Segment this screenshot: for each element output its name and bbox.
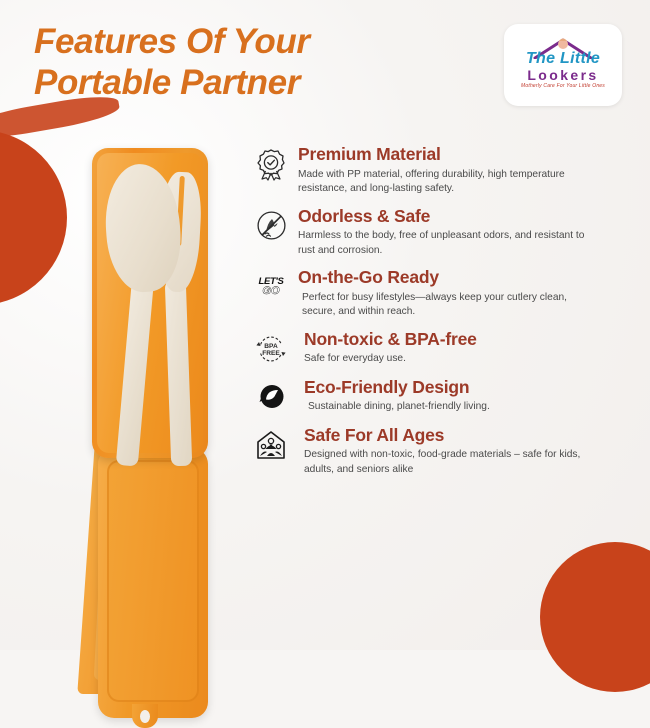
feature-description: Sustainable dining, planet-friendly livi… bbox=[304, 400, 604, 414]
lets-go-icon-bottom: GO bbox=[258, 286, 283, 297]
bpa-icon-text-bottom: FREE bbox=[262, 350, 280, 357]
eco-leaf-icon bbox=[252, 378, 290, 416]
family-home-icon bbox=[252, 426, 290, 464]
brand-logo: The Little Lookers Motherly Care For You… bbox=[504, 24, 622, 106]
feature-title: Odorless & Safe bbox=[298, 207, 624, 227]
feature-title: Non-toxic & BPA-free bbox=[304, 330, 624, 350]
feature-description: Safe for everyday use. bbox=[304, 352, 604, 366]
feature-item: LET'S GO On-the-Go Ready Perfect for bus… bbox=[252, 267, 624, 320]
feature-description: Perfect for busy lifestyles—always keep … bbox=[298, 291, 598, 320]
feature-list: Premium Material Made with PP material, … bbox=[252, 144, 624, 486]
logo-tagline: Motherly Care For Your Little Ones bbox=[507, 83, 619, 89]
feature-item: Eco-Friendly Design Sustainable dining, … bbox=[252, 377, 624, 416]
product-image bbox=[78, 148, 228, 628]
feature-description: Designed with non-toxic, food-grade mate… bbox=[304, 448, 604, 477]
lets-go-icon: LET'S GO bbox=[252, 268, 290, 306]
feature-title: Eco-Friendly Design bbox=[304, 378, 624, 398]
logo-line1: The Little bbox=[507, 50, 619, 68]
feature-item: BPA FREE Non-toxic & BPA-free Safe for e… bbox=[252, 329, 624, 368]
feature-description: Made with PP material, offering durabili… bbox=[298, 168, 598, 197]
feature-title: Safe For All Ages bbox=[304, 426, 624, 446]
badge-check-icon bbox=[252, 145, 290, 183]
bpa-free-icon: BPA FREE bbox=[252, 330, 290, 368]
feature-title: On-the-Go Ready bbox=[298, 268, 624, 288]
feature-item: Premium Material Made with PP material, … bbox=[252, 144, 624, 197]
case-lid bbox=[98, 448, 208, 718]
logo-line2: Lookers bbox=[507, 67, 619, 83]
no-odor-icon bbox=[252, 207, 290, 245]
case-hanging-loop bbox=[132, 704, 158, 728]
feature-item: Safe For All Ages Designed with non-toxi… bbox=[252, 425, 624, 478]
feature-title: Premium Material bbox=[298, 145, 624, 165]
bpa-icon-text-top: BPA bbox=[264, 343, 278, 350]
feature-description: Harmless to the body, free of unpleasant… bbox=[298, 229, 598, 258]
page-title: Features Of Your Portable Partner bbox=[34, 22, 454, 103]
feature-item: Odorless & Safe Harmless to the body, fr… bbox=[252, 206, 624, 259]
